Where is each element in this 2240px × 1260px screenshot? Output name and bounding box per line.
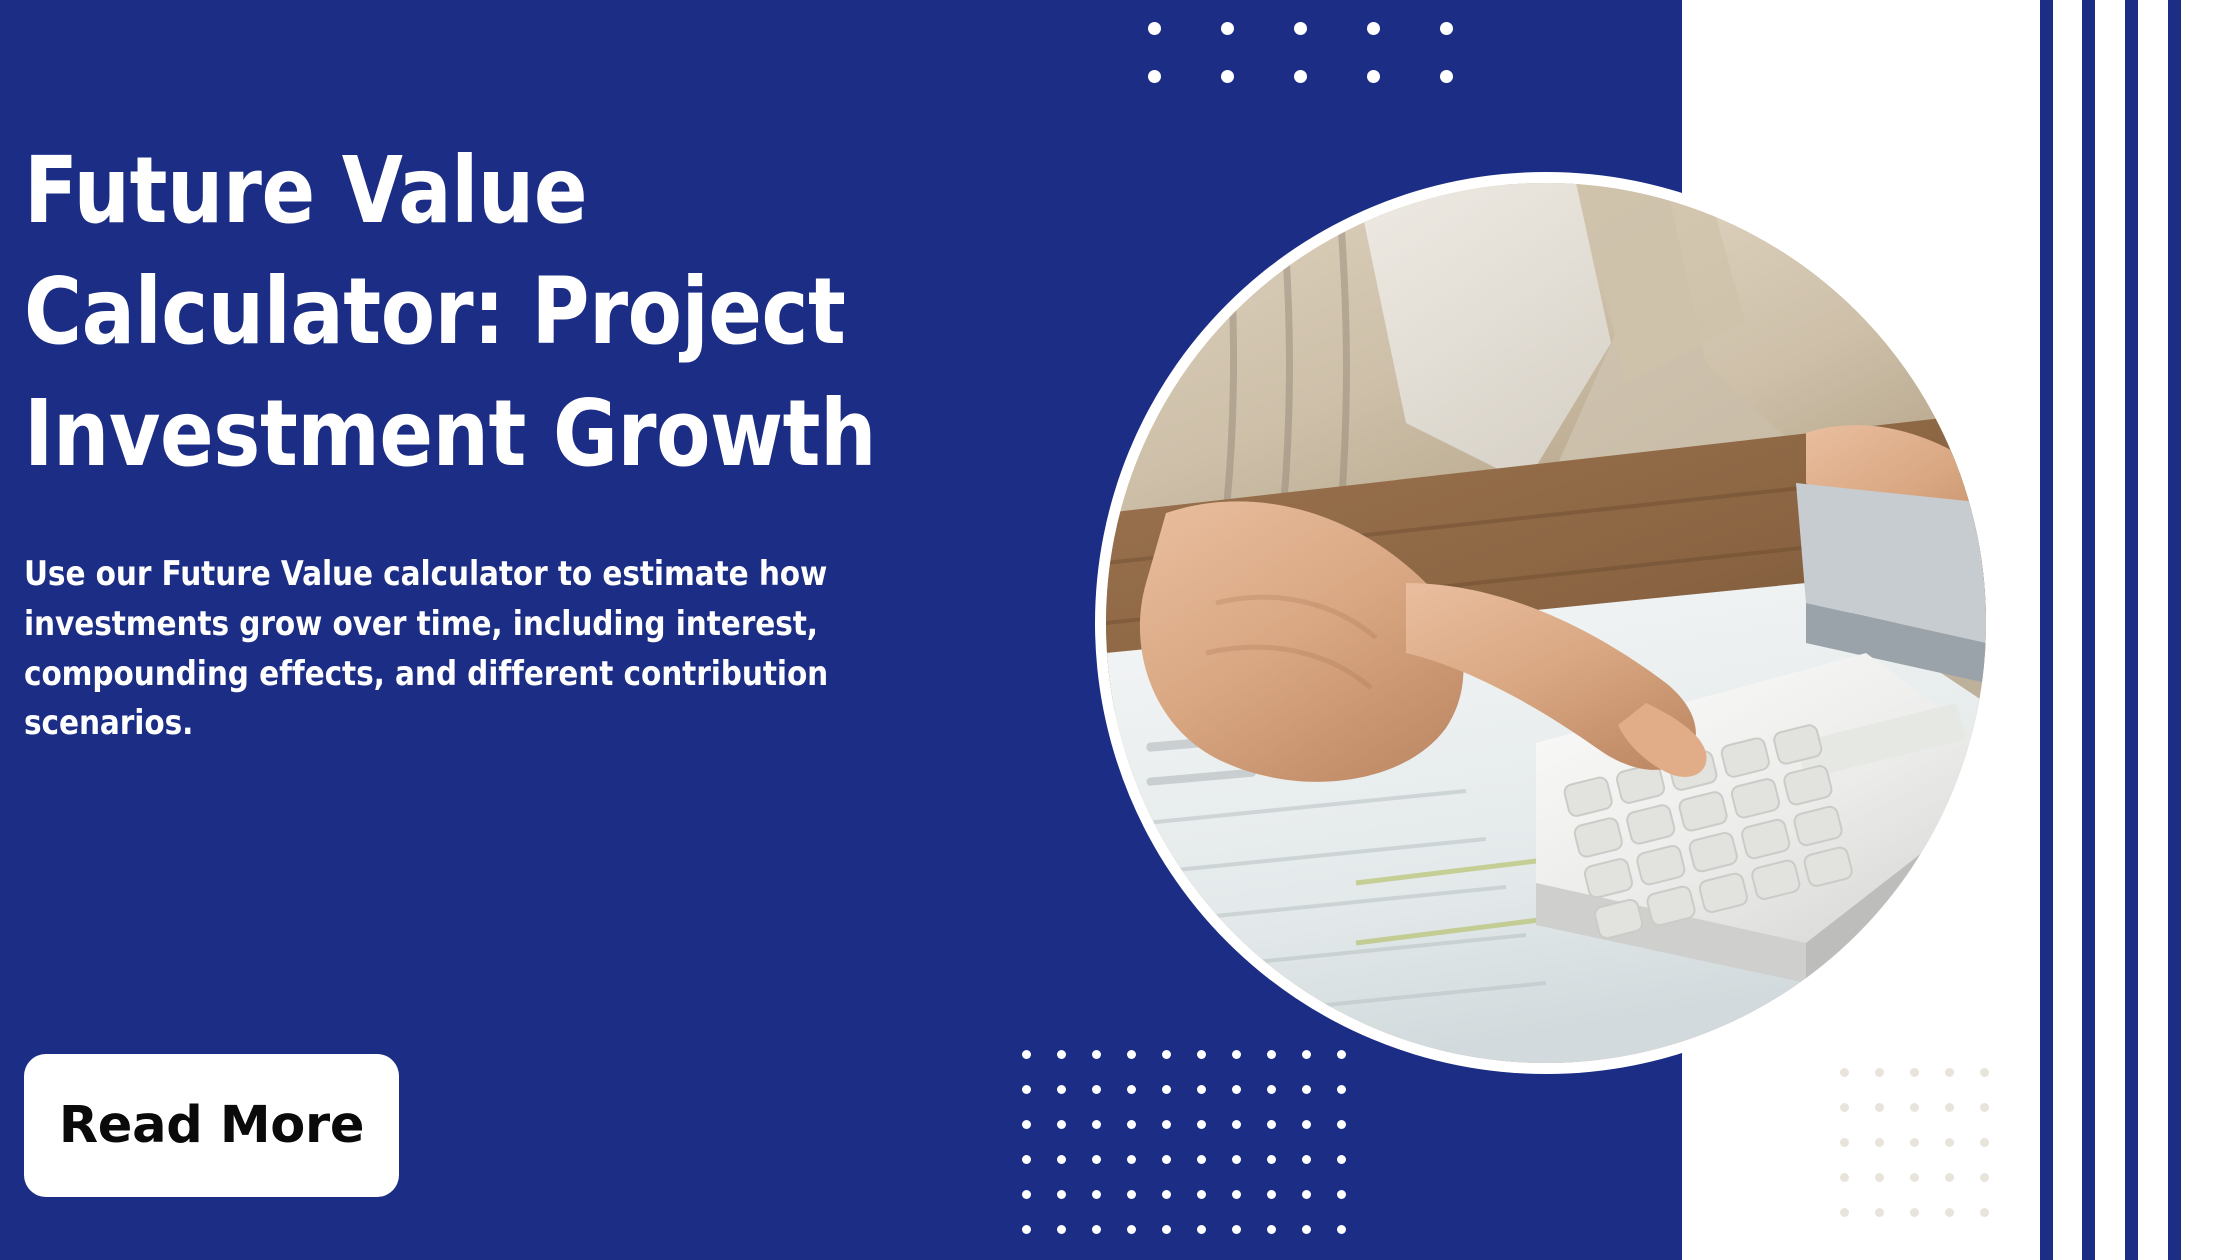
dot-pattern-bottom-right-icon	[1840, 1068, 2040, 1248]
read-more-button[interactable]: Read More	[24, 1054, 399, 1197]
decorative-dot	[1302, 1190, 1311, 1199]
decorative-dot	[1127, 1225, 1136, 1234]
decorative-dot	[1440, 22, 1453, 35]
decorative-dot	[1875, 1138, 1884, 1147]
decorative-dot	[1337, 1085, 1346, 1094]
decorative-dot	[1267, 1190, 1276, 1199]
decorative-dot	[1440, 70, 1453, 83]
decorative-dot	[1267, 1155, 1276, 1164]
decorative-dot	[1840, 1138, 1849, 1147]
decorative-dot	[1232, 1225, 1241, 1234]
decorative-dot	[1910, 1208, 1919, 1217]
decorative-dot	[1910, 1173, 1919, 1182]
decorative-dot	[1945, 1103, 1954, 1112]
decorative-dot	[1092, 1050, 1101, 1059]
decorative-dot	[1197, 1050, 1206, 1059]
decorative-dot	[1980, 1103, 1989, 1112]
decorative-dot	[1022, 1085, 1031, 1094]
decorative-dot	[1022, 1155, 1031, 1164]
decorative-dot	[1910, 1068, 1919, 1077]
decorative-dot	[1022, 1120, 1031, 1129]
decorative-dot	[1980, 1068, 1989, 1077]
decorative-dot	[1162, 1225, 1171, 1234]
decorative-dot	[1980, 1173, 1989, 1182]
decorative-dot	[1294, 22, 1307, 35]
decorative-dot	[1337, 1190, 1346, 1199]
calculator-photo-illustration	[1106, 183, 1986, 1063]
decorative-dot	[1294, 70, 1307, 83]
decorative-dot	[1337, 1225, 1346, 1234]
decorative-dot	[1945, 1208, 1954, 1217]
decorative-dot	[1092, 1190, 1101, 1199]
decorative-dot	[1092, 1120, 1101, 1129]
decorative-dot	[1232, 1050, 1241, 1059]
decorative-dot	[1057, 1120, 1066, 1129]
decorative-dot	[1980, 1208, 1989, 1217]
decorative-dot	[1221, 22, 1234, 35]
decorative-dot	[1057, 1050, 1066, 1059]
decorative-dot	[1057, 1225, 1066, 1234]
decorative-dot	[1302, 1155, 1311, 1164]
decorative-dot	[1267, 1085, 1276, 1094]
decorative-dot	[1840, 1173, 1849, 1182]
vertical-stripe	[2168, 0, 2181, 1260]
decorative-dot	[1337, 1050, 1346, 1059]
decorative-dot	[1875, 1208, 1884, 1217]
decorative-dot	[1162, 1085, 1171, 1094]
decorative-dot	[1945, 1173, 1954, 1182]
decorative-dot	[1148, 70, 1161, 83]
decorative-dot	[1840, 1103, 1849, 1112]
decorative-dot	[1875, 1173, 1884, 1182]
vertical-stripe	[2040, 0, 2053, 1260]
decorative-dot	[1057, 1190, 1066, 1199]
decorative-dot	[1232, 1190, 1241, 1199]
vertical-stripe	[2082, 0, 2095, 1260]
decorative-dot	[1267, 1225, 1276, 1234]
decorative-dot	[1980, 1138, 1989, 1147]
decorative-dot	[1197, 1155, 1206, 1164]
decorative-dot	[1197, 1190, 1206, 1199]
decorative-dot	[1302, 1050, 1311, 1059]
decorative-dot	[1337, 1120, 1346, 1129]
decorative-dot	[1267, 1120, 1276, 1129]
decorative-dot	[1092, 1155, 1101, 1164]
dot-pattern-bottom-left-icon	[1022, 1050, 1362, 1250]
hero-text-block: Future Value Calculator: Project Investm…	[24, 130, 1114, 749]
decorative-dot	[1232, 1085, 1241, 1094]
decorative-dot	[1367, 22, 1380, 35]
decorative-dot	[1875, 1068, 1884, 1077]
decorative-dot	[1232, 1155, 1241, 1164]
decorative-dot	[1337, 1155, 1346, 1164]
hero-image	[1106, 183, 1986, 1063]
decorative-dot	[1302, 1120, 1311, 1129]
decorative-dot	[1162, 1155, 1171, 1164]
decorative-dot	[1197, 1225, 1206, 1234]
vertical-stripe	[2125, 0, 2138, 1260]
decorative-dot	[1162, 1050, 1171, 1059]
decorative-dot	[1057, 1085, 1066, 1094]
decorative-dot	[1302, 1085, 1311, 1094]
decorative-dot	[1127, 1085, 1136, 1094]
decorative-dot	[1162, 1190, 1171, 1199]
decorative-dot	[1945, 1138, 1954, 1147]
decorative-dot	[1092, 1085, 1101, 1094]
decorative-dot	[1910, 1138, 1919, 1147]
decorative-dot	[1092, 1225, 1101, 1234]
decorative-dot	[1127, 1120, 1136, 1129]
decorative-dot	[1232, 1120, 1241, 1129]
decorative-dot	[1057, 1155, 1066, 1164]
decorative-dot	[1022, 1225, 1031, 1234]
page-title: Future Value Calculator: Project Investm…	[24, 130, 961, 494]
decorative-dot	[1910, 1103, 1919, 1112]
decorative-dot	[1148, 22, 1161, 35]
decorative-dot	[1127, 1155, 1136, 1164]
decorative-dot	[1197, 1120, 1206, 1129]
decorative-dot	[1022, 1050, 1031, 1059]
decorative-dot	[1197, 1085, 1206, 1094]
decorative-dot	[1022, 1190, 1031, 1199]
decorative-dot	[1267, 1050, 1276, 1059]
decorative-dot	[1221, 70, 1234, 83]
decorative-dot	[1302, 1225, 1311, 1234]
decorative-dot	[1162, 1120, 1171, 1129]
hero-image-ring	[1095, 172, 1997, 1074]
dot-pattern-top-right-icon	[1148, 22, 1458, 102]
decorative-dot	[1945, 1068, 1954, 1077]
decorative-dot	[1840, 1208, 1849, 1217]
decorative-dot	[1127, 1050, 1136, 1059]
decorative-dot	[1127, 1190, 1136, 1199]
hero-banner: Future Value Calculator: Project Investm…	[0, 0, 2240, 1260]
vertical-stripes-decoration	[2030, 0, 2240, 1260]
decorative-dot	[1875, 1103, 1884, 1112]
hero-description: Use our Future Value calculator to estim…	[24, 550, 990, 749]
decorative-dot	[1367, 70, 1380, 83]
decorative-dot	[1840, 1068, 1849, 1077]
